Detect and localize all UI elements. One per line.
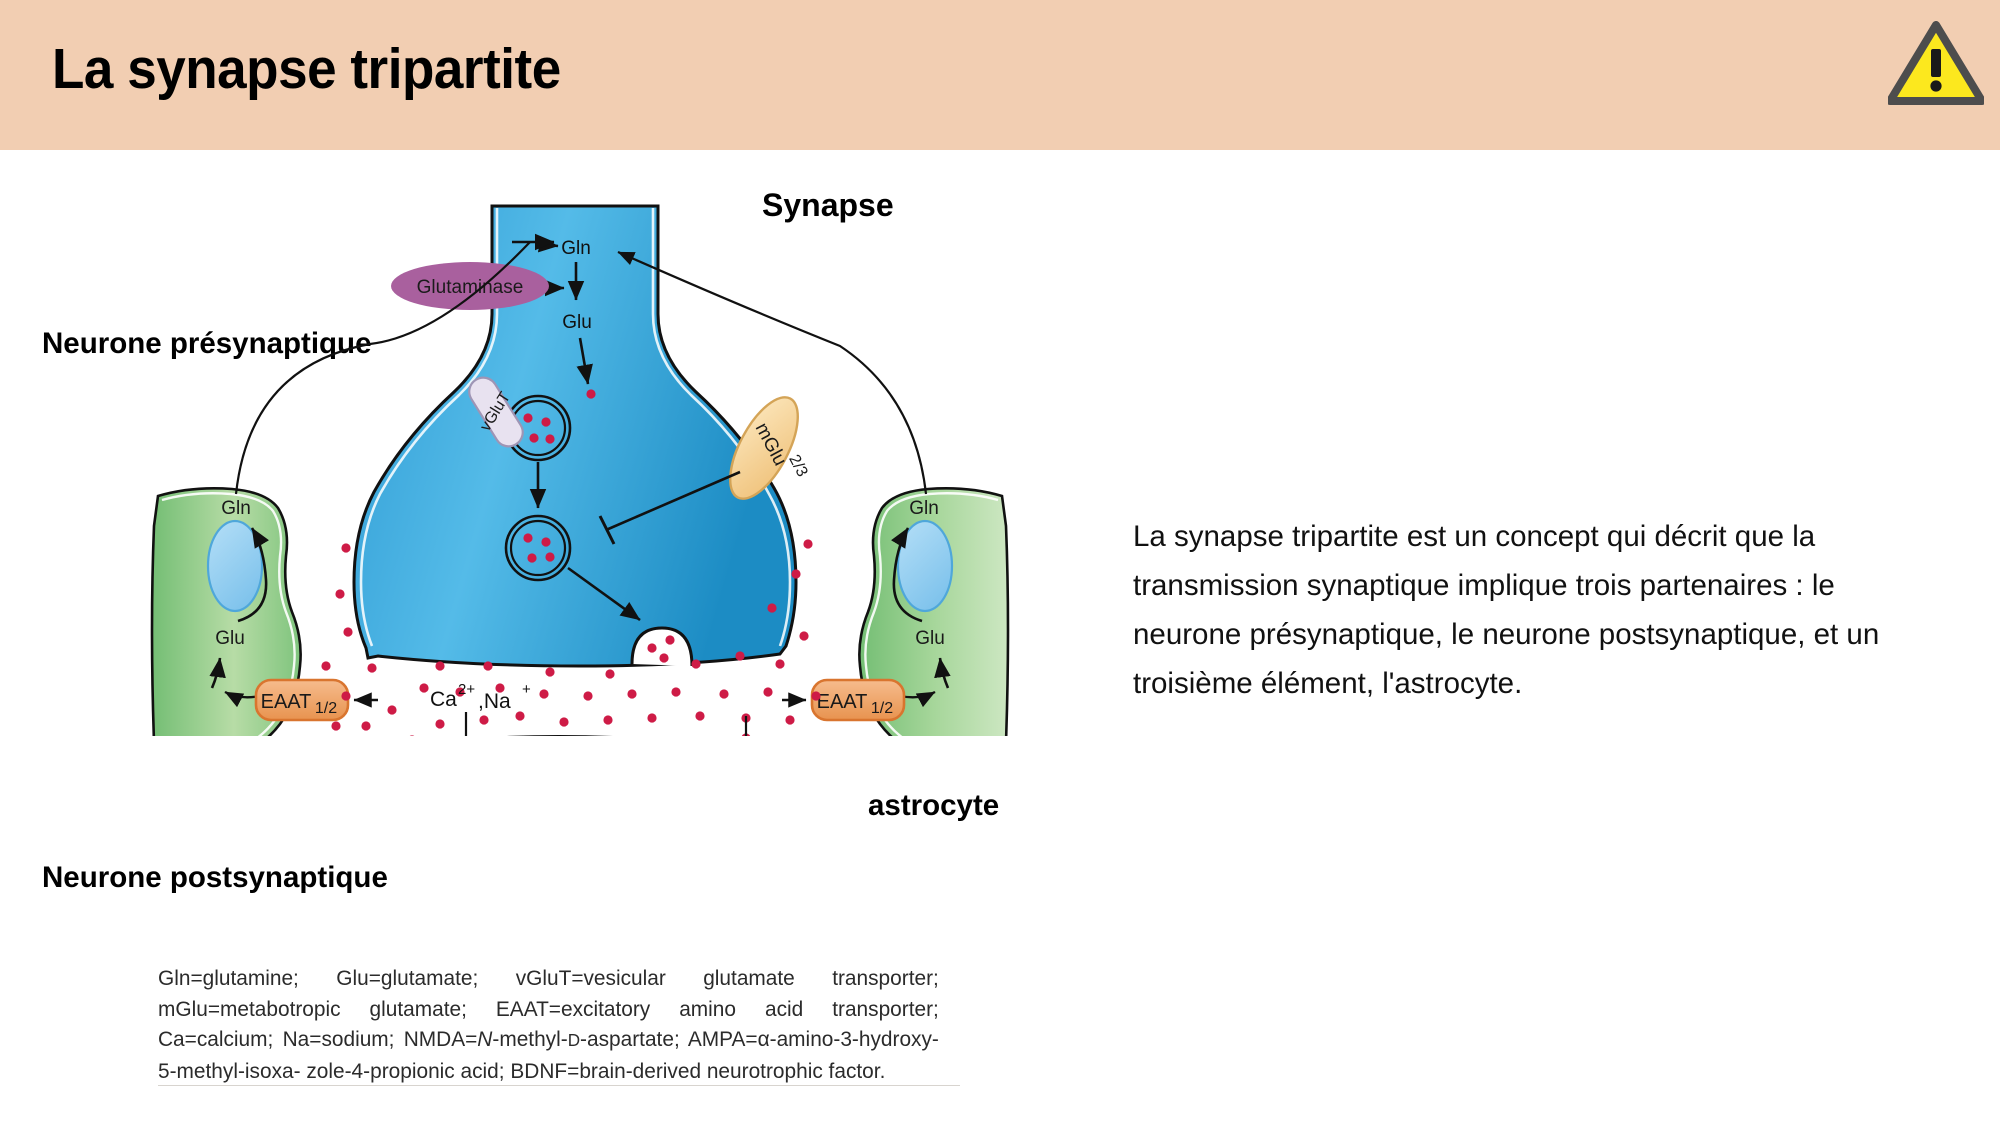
astrocyte-left-glu-label: Glu [215,628,245,649]
warning-triangle-icon [1888,21,1984,105]
svg-text:Glutaminase: Glutaminase [417,277,524,298]
caption-d-smallcap: D [568,1030,580,1050]
astrocyte-left-gln-label: Gln [221,498,251,519]
caption-divider-rule [158,1085,960,1086]
page-title: La synapse tripartite [52,36,561,102]
presynaptic-gln-label: Gln [561,238,591,259]
astrocyte-right-nucleus [898,521,952,611]
svg-text:+: + [522,681,531,698]
svg-text:Ca: Ca [430,688,457,711]
caption-line-3b: -methyl- [492,1027,567,1051]
svg-text:2+: 2+ [458,681,475,698]
caption-line-1: Gln=glutamine; Glu=glutamate; vGluT=vesi… [158,966,939,990]
caption-n-italic: N [477,1027,492,1051]
label-astrocyte: astrocyte [868,789,999,823]
svg-text:EAAT: EAAT [817,691,868,713]
svg-text:1/2: 1/2 [871,700,893,717]
caption-line-3a: Na=sodium; NMDA= [283,1027,478,1051]
figure-caption: Gln=glutamine; Glu=glutamate; vGluT=vesi… [158,963,939,1086]
caption-line-4: zole-4-propionic acid; BDNF=brain-derive… [306,1059,885,1083]
svg-text:,Na: ,Na [478,690,511,713]
glutaminase-enzyme: Glutaminase [391,262,549,310]
astrocyte-right-gln-label: Gln [909,498,939,519]
eaat12-right-transporter: EAAT 1/2 [812,680,904,720]
astrocyte-left-nucleus [208,521,262,611]
svg-text:1/2: 1/2 [315,700,337,717]
slide-canvas: La synapse tripartite La synapse tripart… [0,0,2000,1125]
ion-label-calcium-sodium: Ca 2+ ,Na + [430,681,531,736]
description-paragraph: La synapse tripartite est un concept qui… [1133,512,1923,708]
presynaptic-terminal: Gln Glu Glutaminase vGluT [354,206,811,666]
label-postsynaptic-neuron: Neurone postsynaptique [42,861,388,895]
presynaptic-glu-label: Glu [562,312,592,333]
tripartite-synapse-diagram: Gln Glu EAAT 1/2 Gln Glu EAAT 1/2 [140,196,1020,736]
eaat12-left-transporter: EAAT 1/2 [256,680,348,720]
svg-text:EAAT: EAAT [261,691,312,713]
astrocyte-right-glu-label: Glu [915,628,945,649]
eaat3-transporter: EAAT 3 Glu [726,716,766,736]
